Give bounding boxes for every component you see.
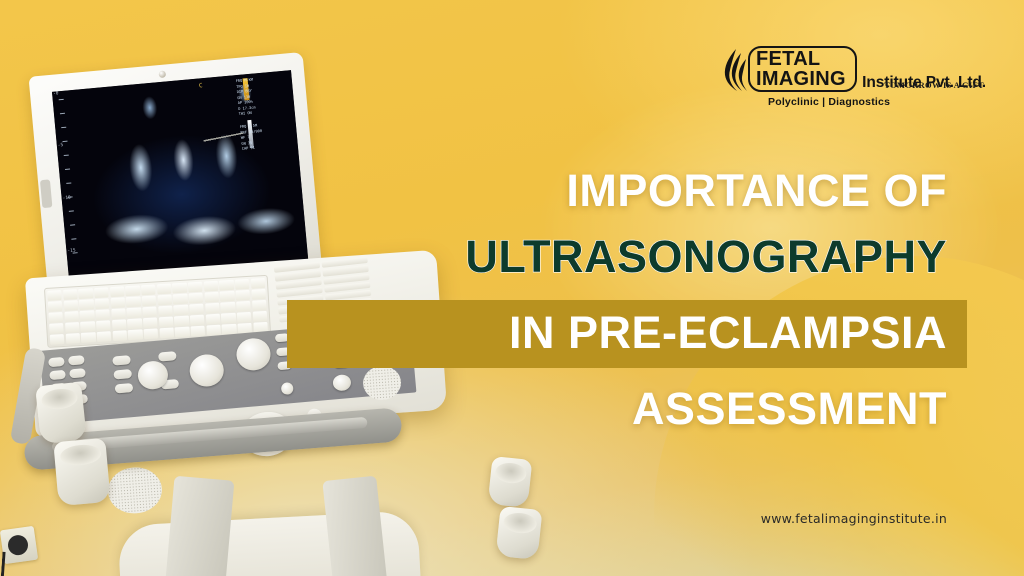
ultrasound-screen: -0 -5 -10 -15 C FRQ M.KM TPQ IH DIP BSY … — [52, 70, 308, 281]
probe-holder-upper — [35, 382, 87, 444]
panel-button — [112, 355, 131, 366]
flame-icon — [714, 48, 748, 92]
panel-button — [158, 351, 177, 362]
brand-logo[interactable]: FETAL IMAGING Institute Pvt. Ltd. Polycl… — [714, 44, 986, 100]
banner-canvas: -0 -5 -10 -15 C FRQ M.KM TPQ IH DIP BSY … — [0, 0, 1024, 576]
depth-label-10: -10 — [62, 196, 71, 202]
power-cable — [0, 552, 44, 576]
panel-knob-depth — [188, 353, 225, 388]
panel-button — [115, 383, 134, 394]
probe-holder-right-lower — [496, 506, 543, 560]
lid-hinge — [40, 179, 52, 208]
depth-label-5: -5 — [58, 143, 64, 148]
panel-button — [113, 369, 132, 380]
headline-line-1: IMPORTANCE OF — [307, 168, 947, 218]
speaker-left — [106, 466, 163, 516]
website-url[interactable]: www.fetalimaginginstitute.in — [761, 511, 947, 526]
headline-line-3: IN PRE-ECLAMPSIA — [287, 300, 967, 368]
panel-button — [48, 357, 65, 367]
brand-name-boxed: FETAL IMAGING — [748, 46, 857, 92]
cart-column-right — [322, 476, 391, 576]
cart-column — [162, 476, 235, 576]
panel-knob-focus — [235, 337, 272, 372]
screen-parameter-list: FRQ M.KM TPQ IH DIP BSY GN 130 AP 100% D… — [236, 74, 300, 188]
panel-button — [68, 355, 85, 365]
headline-line-4: ASSESSMENT — [307, 386, 947, 432]
brand-name-text: FETAL IMAGING — [756, 48, 846, 90]
logo-subtitle: Polyclinic | Diagnostics — [768, 96, 986, 108]
logo-tagline: TOMORROW IS A GIFT — [884, 80, 984, 90]
roi-marker-label: C — [199, 82, 203, 89]
probe-holder-lower — [53, 438, 110, 506]
logo-text-block: FETAL IMAGING Institute Pvt. Ltd. Polycl… — [748, 46, 986, 108]
headline-line-2: ULTRASONOGRAPHY — [307, 234, 947, 284]
depth-label-15: -15 — [67, 248, 76, 254]
panel-button — [69, 368, 86, 378]
headline-band-wrapper: IN PRE-ECLAMPSIA — [307, 300, 947, 368]
panel-button — [49, 370, 66, 380]
lid-indicator-dot — [159, 70, 167, 78]
depth-label-0: -0 — [53, 91, 59, 96]
probe-holder-right-upper — [488, 456, 533, 508]
headline-block: IMPORTANCE OF ULTRASONOGRAPHY IN PRE-ECL… — [307, 168, 947, 432]
